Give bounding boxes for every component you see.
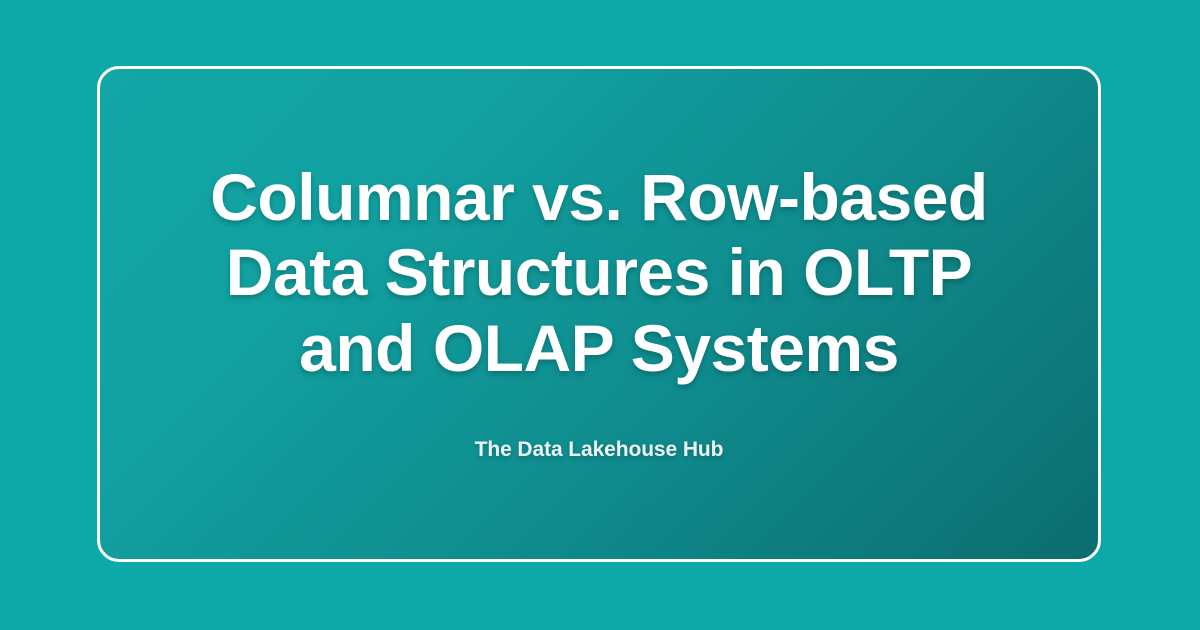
content-card: Columnar vs. Row-based Data Structures i… [97, 66, 1101, 562]
site-name-subtitle: The Data Lakehouse Hub [475, 438, 724, 462]
card-content-stack: Columnar vs. Row-based Data Structures i… [100, 160, 1098, 462]
og-image-canvas: Columnar vs. Row-based Data Structures i… [0, 0, 1200, 630]
page-title-line-3: and OLAP Systems [299, 311, 899, 385]
page-title-line-1: Columnar vs. Row-based [210, 160, 988, 234]
page-title-line-2: Data Structures in OLTP [226, 235, 972, 309]
page-title: Columnar vs. Row-based Data Structures i… [210, 160, 988, 386]
